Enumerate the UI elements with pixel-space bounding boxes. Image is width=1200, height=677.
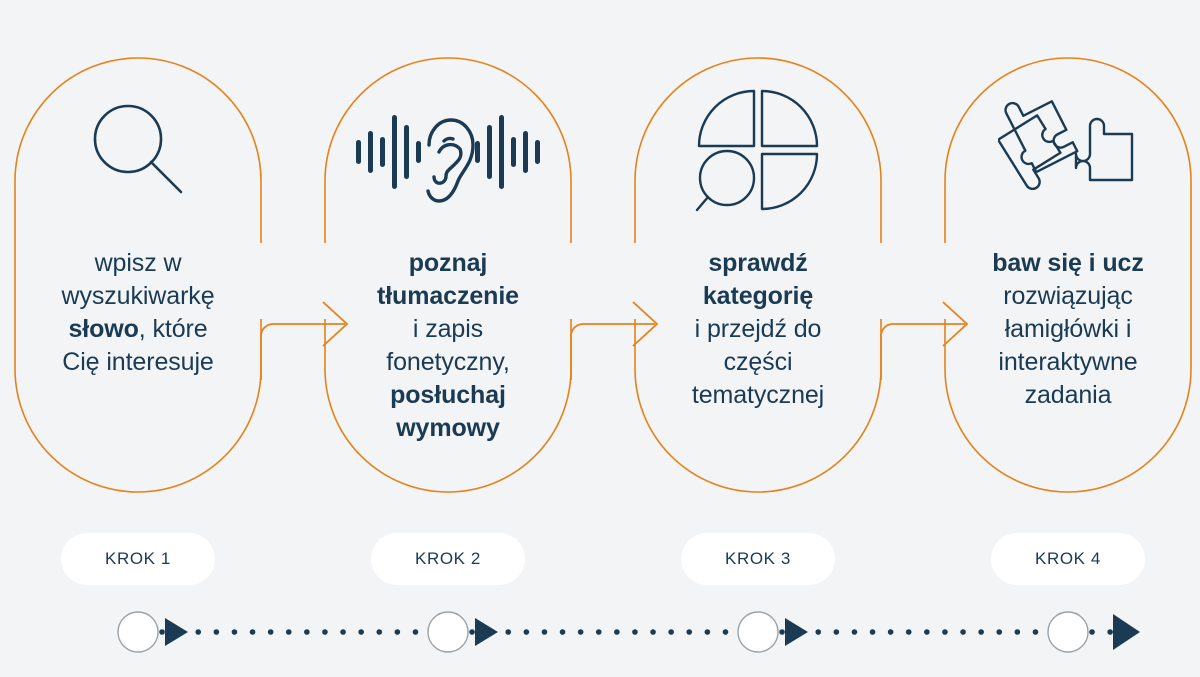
step-4-text: baw się i ucz rozwiązując łamigłówki i i… [953, 247, 1183, 412]
step-line-bold: posłuchaj [390, 381, 506, 409]
step-line: poznaj [333, 247, 563, 280]
arrow-right-icon [855, 290, 975, 380]
step-line-bold: baw się i ucz [992, 249, 1144, 277]
step-line-bold: słowo [68, 315, 138, 343]
step-line: posłuchaj [333, 379, 563, 412]
capsule-outline-4 [944, 57, 1192, 493]
step-line: słowo, które [23, 313, 253, 346]
progress-track-svg [0, 600, 1200, 670]
step-line: zadania [953, 379, 1183, 412]
progress-track [0, 600, 1200, 670]
step-pill-label: KROK 3 [725, 549, 791, 569]
connector-2-3 [545, 290, 665, 380]
step-1-icon-box [14, 57, 262, 247]
triangle-end-icon [1113, 614, 1140, 650]
step-line: tłumaczenie [333, 280, 563, 313]
capsule-outline-2 [324, 57, 572, 493]
step-2-text: poznaj tłumaczenie i zapis fonetyczny, p… [333, 247, 563, 445]
puzzle-pieces-icon [998, 82, 1138, 222]
step-line: baw się i ucz [953, 247, 1183, 280]
step-1-text: wpisz w wyszukiwarkę słowo, które Cię in… [23, 247, 253, 379]
step-pill-1[interactable]: KROK 1 [61, 533, 215, 585]
circle-node-icon[interactable] [428, 612, 468, 652]
step-3-text: sprawdź kategorię i przejdź do części te… [643, 247, 873, 412]
capsule-outline-3 [634, 57, 882, 493]
step-4-icon-box [944, 57, 1192, 247]
arrow-right-icon [545, 290, 665, 380]
step-line-bold: kategorię [703, 282, 813, 310]
step-2-icon-box [324, 57, 572, 247]
step-card-4[interactable]: baw się i ucz rozwiązując łamigłówki i i… [944, 57, 1192, 493]
step-line: kategorię [643, 280, 873, 313]
step-pill-3[interactable]: KROK 3 [681, 533, 835, 585]
ear-soundwave-icon [354, 97, 542, 207]
step-line: interaktywne [953, 346, 1183, 379]
arrow-right-icon [235, 290, 355, 380]
pie-chart-magnifier-icon [695, 86, 821, 218]
step-pill-label: KROK 4 [1035, 549, 1101, 569]
step-card-3[interactable]: sprawdź kategorię i przejdź do części te… [634, 57, 882, 493]
step-card-1[interactable]: wpisz w wyszukiwarkę słowo, które Cię in… [14, 57, 262, 493]
step-card-2[interactable]: poznaj tłumaczenie i zapis fonetyczny, p… [324, 57, 572, 493]
step-line: Cię interesuje [23, 346, 253, 379]
step-line: i zapis [333, 313, 563, 346]
step-line-bold: sprawdź [708, 249, 807, 277]
step-line: wymowy [333, 412, 563, 445]
steps-infographic: wpisz w wyszukiwarkę słowo, które Cię in… [0, 0, 1200, 677]
circle-node-icon[interactable] [1048, 612, 1088, 652]
connector-1-2 [235, 290, 355, 380]
connector-3-4 [855, 290, 975, 380]
step-line-bold: tłumaczenie [377, 282, 519, 310]
step-line: części [643, 346, 873, 379]
capsule-outline-1 [14, 57, 262, 493]
circle-node-icon[interactable] [738, 612, 778, 652]
step-line: i przejdź do [643, 313, 873, 346]
step-line: tematycznej [643, 379, 873, 412]
triangle-marker-icon [475, 618, 498, 646]
triangle-marker-icon [165, 618, 188, 646]
step-line-suffix: , które [139, 315, 208, 343]
step-line: łamigłówki i [953, 313, 1183, 346]
step-line: rozwiązując [953, 280, 1183, 313]
triangle-marker-icon [785, 618, 808, 646]
step-pill-2[interactable]: KROK 2 [371, 533, 525, 585]
step-line: wyszukiwarkę [23, 280, 253, 313]
step-pill-4[interactable]: KROK 4 [991, 533, 1145, 585]
step-line-bold: poznaj [409, 249, 488, 277]
step-line: fonetyczny, [333, 346, 563, 379]
circle-node-icon[interactable] [118, 612, 158, 652]
step-line-bold: wymowy [396, 414, 500, 442]
step-3-icon-box [634, 57, 882, 247]
step-line: wpisz w [23, 247, 253, 280]
step-pill-label: KROK 2 [415, 549, 481, 569]
magnifier-icon [78, 92, 198, 212]
step-line: sprawdź [643, 247, 873, 280]
step-pill-label: KROK 1 [105, 549, 171, 569]
